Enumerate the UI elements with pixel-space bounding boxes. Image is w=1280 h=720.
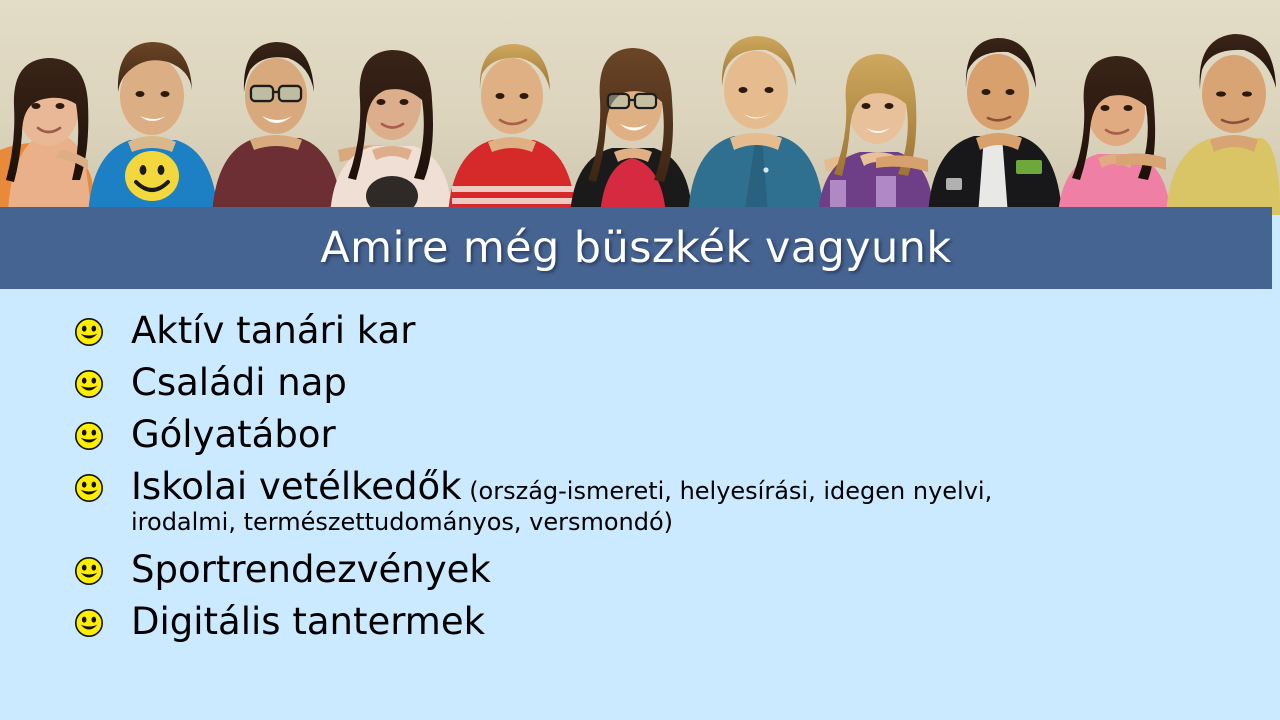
list-item-label: Sportrendezvények	[131, 548, 491, 591]
group-photo-illustration	[0, 0, 1280, 215]
list-item: Digitális tantermek	[0, 602, 1280, 642]
smiley-face-icon	[74, 473, 104, 503]
bullet-list: Aktív tanári kar Családi nap	[0, 289, 1280, 720]
list-item-body: Gólyatábor	[131, 415, 1131, 455]
list-item-body: Aktív tanári kar	[131, 311, 1131, 351]
smiley-face-icon	[74, 556, 104, 586]
list-item-detail: (ország-ismereti, helyesírási, idegen ny…	[462, 477, 993, 505]
slide: Amire még büszkék vagyunk Aktív tanári k…	[0, 0, 1280, 720]
smiley-face-icon	[74, 608, 104, 638]
slide-title: Amire még büszkék vagyunk	[320, 223, 951, 273]
list-item: Gólyatábor	[0, 415, 1280, 455]
smiley-face-icon	[74, 317, 104, 347]
header-photo	[0, 0, 1280, 215]
list-item-label: Családi nap	[131, 361, 347, 404]
title-band: Amire még büszkék vagyunk	[0, 207, 1272, 289]
list-item-body: Iskolai vetélkedők (ország-ismereti, hel…	[131, 467, 1131, 538]
list-item-label: Digitális tantermek	[131, 600, 485, 643]
list-item: Sportrendezvények	[0, 550, 1280, 590]
list-item-body: Családi nap	[131, 363, 1131, 403]
list-item: Iskolai vetélkedők (ország-ismereti, hel…	[0, 467, 1280, 538]
list-item-label: Iskolai vetélkedők	[131, 465, 462, 508]
smiley-face-icon	[74, 421, 104, 451]
list-item-body: Sportrendezvények	[131, 550, 1131, 590]
list-item-label: Gólyatábor	[131, 413, 336, 456]
list-item-label: Aktív tanári kar	[131, 309, 415, 352]
smiley-face-icon	[74, 369, 104, 399]
list-item-body: Digitális tantermek	[131, 602, 1131, 642]
list-item-detail-continued: irodalmi, természettudományos, versmondó…	[131, 507, 1131, 538]
list-item: Családi nap	[0, 363, 1280, 403]
list-item: Aktív tanári kar	[0, 311, 1280, 351]
